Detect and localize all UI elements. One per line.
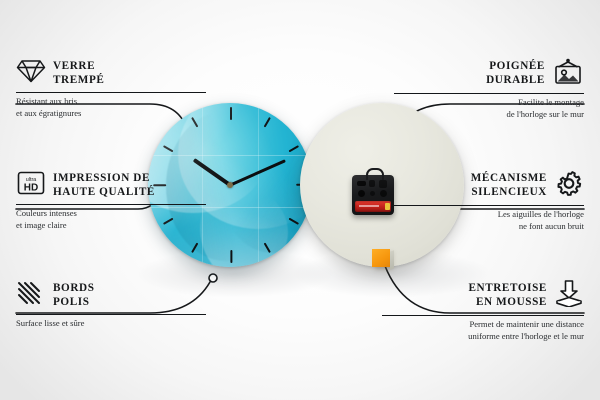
feature-title: BORDS POLIS [53,282,95,309]
diamond-icon [16,58,46,89]
feature-title: MÉCANISME SILENCIEUX [471,172,547,199]
ultra-hd-icon: ultra HD [16,170,46,201]
title-underline [382,315,584,316]
arrow-press-pad-icon [554,280,584,312]
feature-title: POIGNÉE DURABLE [486,60,545,87]
clock-center-pin [227,182,233,188]
infographic-canvas: VERRE TREMPÉ Résistant aux bris et aux é… [0,0,600,400]
diagonal-lines-icon [16,280,46,311]
foam-spacer [372,249,390,267]
svg-text:HD: HD [24,183,38,194]
feature-verre-trempe: VERRE TREMPÉ Résistant aux bris et aux é… [16,58,206,120]
feature-title: ENTRETOISE EN MOUSSE [468,282,547,309]
feature-title: VERRE TREMPÉ [53,60,104,87]
title-underline [16,314,206,315]
feature-description: Les aiguilles de l'horloge ne font aucun… [394,209,584,232]
feature-impression-haute-qualite: ultra HD IMPRESSION DE HAUTE QUALITÉ Cou… [16,170,206,232]
feature-entretoise-en-mousse: ENTRETOISE EN MOUSSE Permet de maintenir… [382,280,584,343]
feature-description: Facilite le montage de l'horloge sur le … [394,97,584,120]
feature-poignee-durable: POIGNÉE DURABLE Facilite le montage de l… [394,58,584,121]
feature-description: Surface lisse et sûre [16,318,206,330]
feature-description: Permet de maintenir une distance uniform… [382,319,584,342]
gear-icon [554,170,584,202]
feature-description: Couleurs intenses et image claire [16,208,206,231]
feature-bords-polis: BORDS POLIS Surface lisse et sûre [16,280,206,330]
hanging-picture-frame-icon [552,58,584,90]
title-underline [16,204,206,205]
feature-description: Résistant aux bris et aux égratignures [16,96,206,119]
feature-mecanisme-silencieux: MÉCANISME SILENCIEUX Les aiguilles de l'… [394,170,584,233]
title-underline [16,92,206,93]
hanger-loop-icon [366,168,384,180]
title-underline [394,205,584,206]
marker-bords-polis [209,274,217,282]
feature-title: IMPRESSION DE HAUTE QUALITÉ [53,172,155,199]
clock-mechanism [352,175,394,215]
title-underline [394,93,584,94]
battery [355,201,391,212]
